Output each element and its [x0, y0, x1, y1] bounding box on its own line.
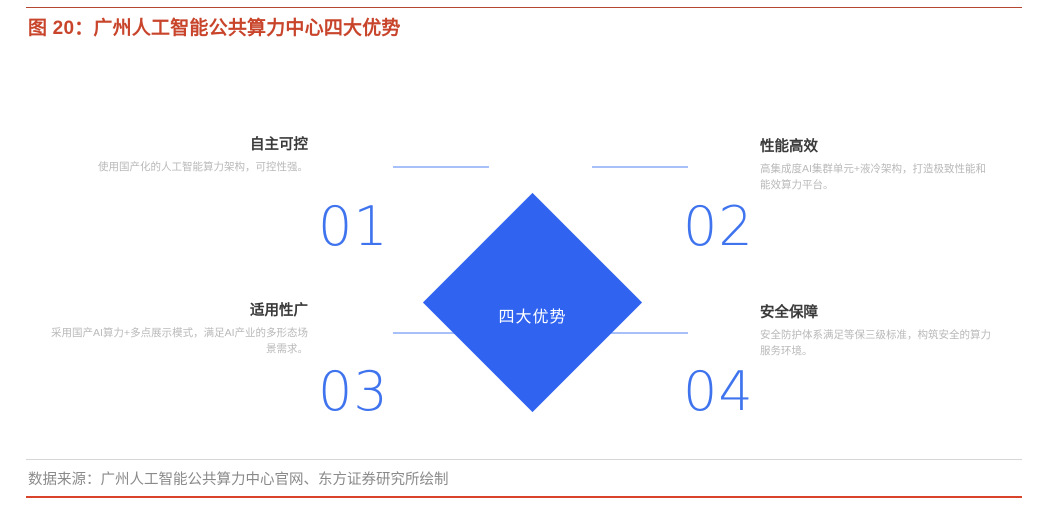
connector-line-top-left — [393, 166, 489, 168]
advantage-heading-04: 安全保障 — [760, 305, 990, 322]
data-source-note: 数据来源：广州人工智能公共算力中心官网、东方证券研究所绘制 — [28, 468, 449, 489]
advantage-number-03: 03 — [318, 365, 389, 419]
advantage-number-01: 01 — [318, 200, 389, 254]
advantage-description-02: 高集成度AI集群单元+液冷架构，打造极致性能和能效算力平台。 — [760, 161, 988, 194]
figure-page: 图 20：广州人工智能公共算力中心四大优势 四大优势 01 自主可控 使用国产化… — [0, 0, 1048, 506]
advantage-heading-02: 性能高效 — [760, 139, 990, 156]
center-diamond-label: 四大优势 — [455, 303, 610, 327]
connector-line-top-right — [592, 166, 688, 168]
four-advantages-diagram: 四大优势 01 自主可控 使用国产化的人工智能算力架构，可控性强。 02 性能高… — [0, 60, 1048, 440]
advantage-heading-03: 适用性广 — [148, 303, 308, 320]
footer-divider-rule — [26, 459, 1022, 460]
title-divider-rule — [26, 7, 1022, 8]
footer-bottom-rule — [26, 496, 1022, 498]
advantage-description-03: 采用国产AI算力+多点展示模式，满足AI产业的多形态场景需求。 — [42, 325, 308, 358]
advantage-description-01: 使用国产化的人工智能算力架构，可控性强。 — [88, 159, 308, 175]
advantage-number-04: 04 — [683, 365, 754, 419]
advantage-number-02: 02 — [683, 200, 754, 254]
figure-title: 图 20：广州人工智能公共算力中心四大优势 — [28, 13, 401, 40]
advantage-heading-01: 自主可控 — [148, 137, 308, 154]
advantage-description-04: 安全防护体系满足等保三级标准，构筑安全的算力服务环境。 — [760, 327, 992, 360]
